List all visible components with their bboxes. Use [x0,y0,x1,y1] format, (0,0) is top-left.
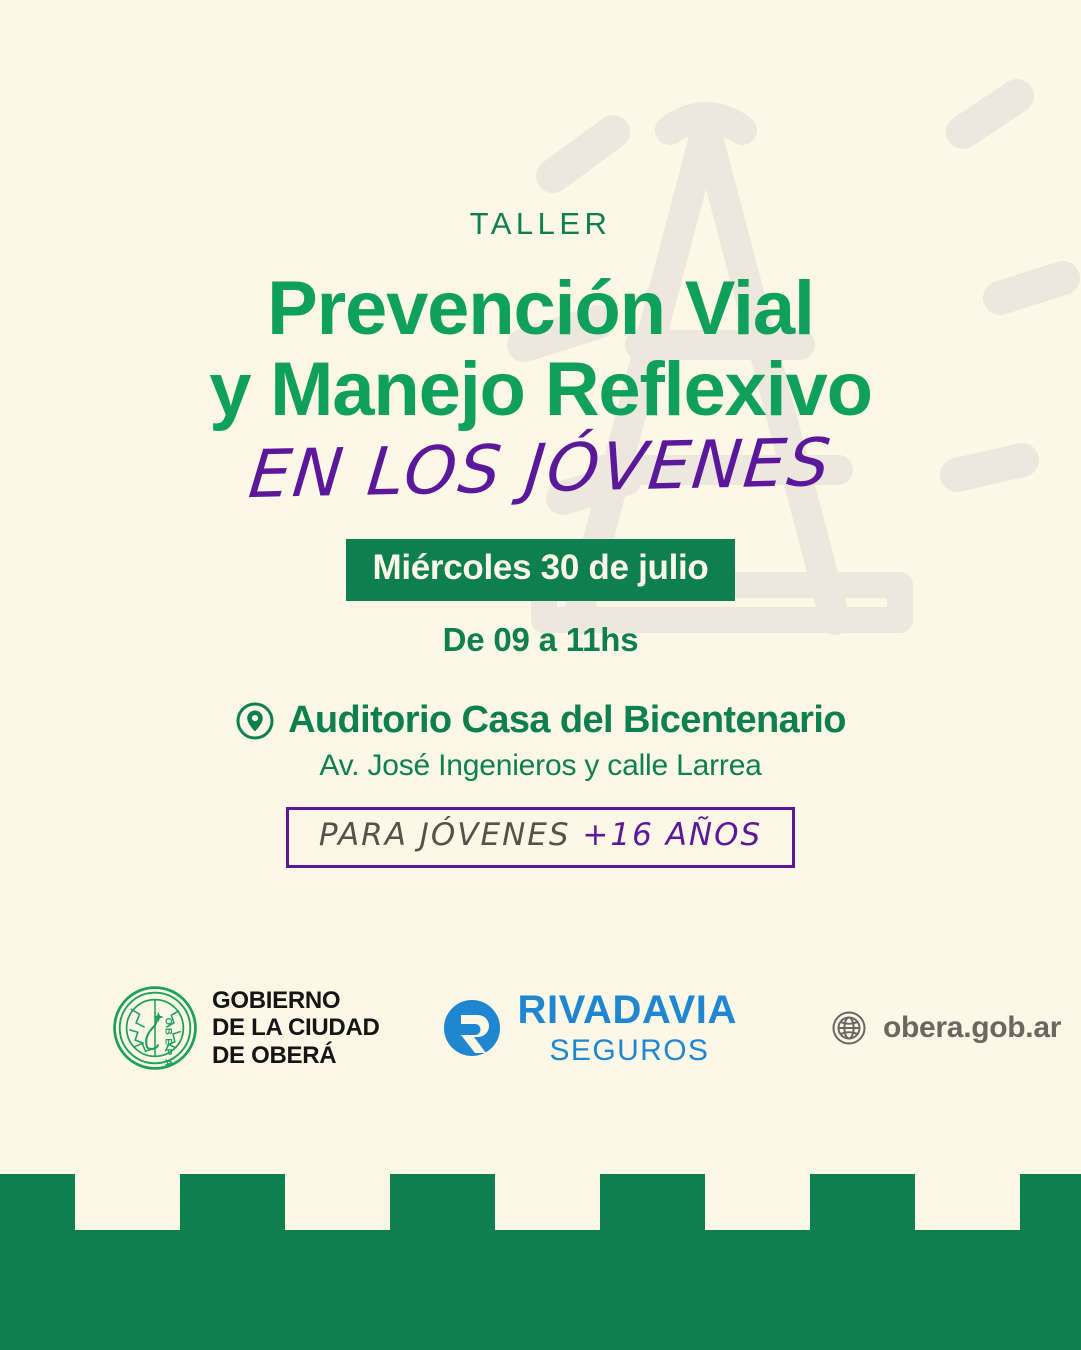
rivadavia-r-mark-icon [442,998,502,1058]
kicker-label: TALLER [0,208,1081,239]
date-badge-wrap: Miércoles 30 de julio [0,503,1081,601]
venue-name: Auditorio Casa del Bicentenario [288,699,846,742]
website-row[interactable]: obera.gob.ar [831,1010,1061,1046]
sponsor-logo: RIVADAVIA SEGUROS [442,990,737,1066]
svg-text:A: A [162,1059,173,1066]
headline-line-2: y Manejo Reflexivo [0,350,1081,431]
age-note-plain: PARA JÓVENES [319,817,583,853]
obera-coat-of-arms-icon: O B E R A [112,985,198,1071]
bottom-crenellated-band [0,1150,1081,1350]
headline-script-line: EN LOS JÓVENES [0,423,1081,515]
svg-text:E: E [162,1038,173,1044]
status-badge: Miércoles 30 de julio [346,539,734,601]
sponsor-name: RIVADAVIA [518,990,737,1030]
poster-content: TALLER Prevención Vial y Manejo Reflexiv… [0,208,1081,868]
venue-address: Av. José Ingenieros y calle Larrea [0,749,1081,783]
gov-line-3: DE OBERÁ [212,1042,380,1069]
age-note-wrap: PARA JÓVENES +16 AÑOS [0,783,1081,868]
headline-line-1: Prevención Vial [267,266,814,351]
svg-text:R: R [162,1049,173,1056]
location-pin-icon [235,701,275,741]
globe-icon [831,1010,867,1046]
poster-root: TALLER Prevención Vial y Manejo Reflexiv… [0,0,1081,1350]
svg-text:B: B [162,1028,173,1035]
page-title: Prevención Vial y Manejo Reflexivo [0,269,1081,430]
age-restriction-box: PARA JÓVENES +16 AÑOS [286,807,795,868]
age-note-accent: +16 AÑOS [582,817,762,853]
logo-row: O B E R A GOBIERNO DE LA CIUDAD DE OBERÁ… [0,985,1081,1071]
sponsor-logo-text: RIVADAVIA SEGUROS [518,990,737,1066]
sponsor-subtitle: SEGUROS [550,1036,737,1066]
gov-line-2: DE LA CIUDAD [212,1014,380,1041]
event-time: De 09 a 11hs [0,621,1081,659]
government-logo-text: GOBIERNO DE LA CIUDAD DE OBERÁ [212,987,380,1068]
venue-row: Auditorio Casa del Bicentenario [0,699,1081,742]
government-logo: O B E R A GOBIERNO DE LA CIUDAD DE OBERÁ [112,985,380,1071]
website-url[interactable]: obera.gob.ar [883,1011,1061,1045]
gov-line-1: GOBIERNO [212,987,380,1014]
svg-text:O: O [162,1018,173,1025]
